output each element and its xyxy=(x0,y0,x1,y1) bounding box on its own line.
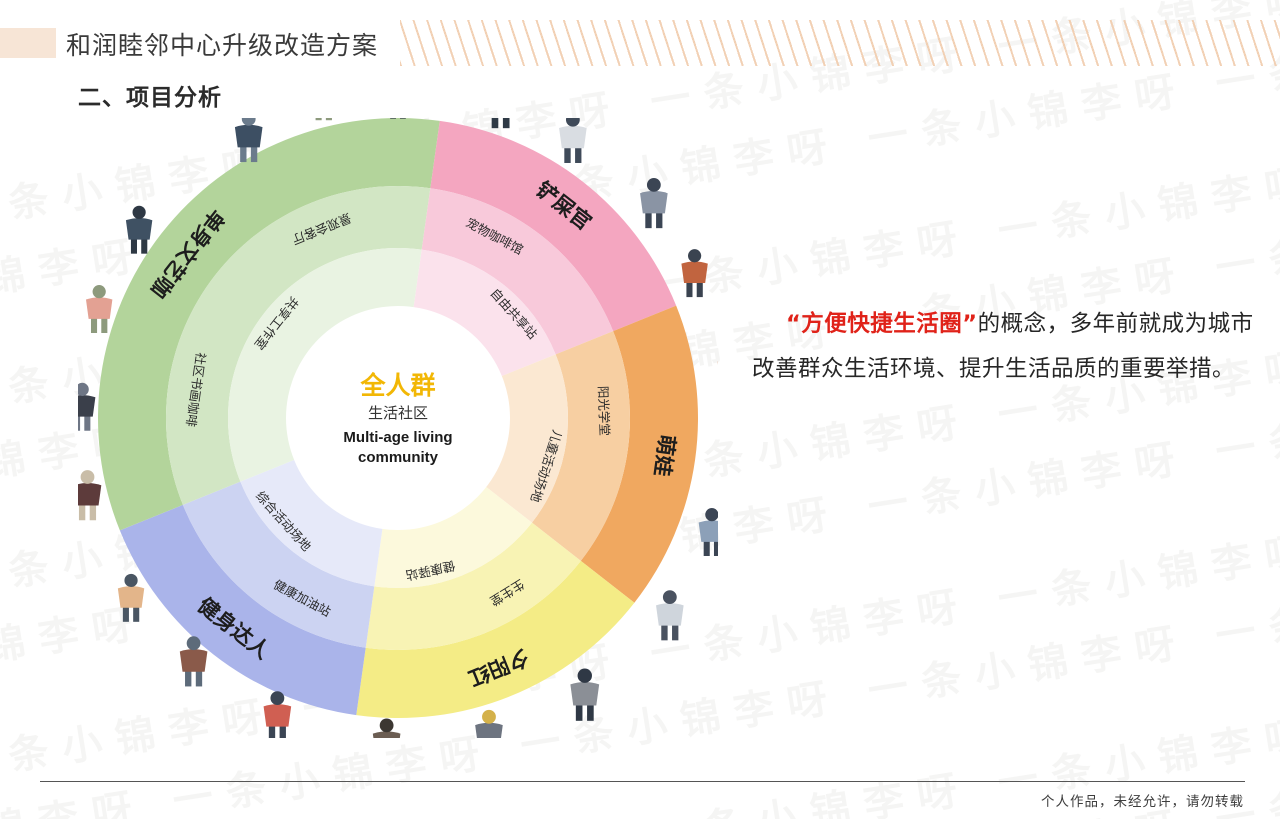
body-paragraph: “方便快捷生活圈”的概念，多年前就成为城市改善群众生活环境、提升生活品质的重要举… xyxy=(752,302,1258,392)
person-with-dog xyxy=(559,118,587,163)
person-seated-chat xyxy=(78,470,101,520)
person-sitting xyxy=(311,118,337,120)
person-stretch xyxy=(118,574,144,622)
person-elder-couple xyxy=(570,668,599,720)
ring-label-kids-0: 阳光学堂 xyxy=(596,386,613,437)
person-phone xyxy=(126,206,152,254)
person-leash xyxy=(681,249,707,297)
person-weightlifter xyxy=(264,691,292,738)
person-elder-music xyxy=(373,719,401,738)
person-listener xyxy=(78,383,95,431)
header-color-swatch xyxy=(0,28,56,58)
person-dog-walker xyxy=(486,118,515,128)
highlight-phrase: “方便快捷生活圈” xyxy=(786,311,978,337)
hub-english-line1: Multi-age living xyxy=(343,429,452,446)
footer-copyright-note: 个人作品，未经允许，请勿转载 xyxy=(1041,790,1244,810)
radial-community-diagram: 宠物咖啡馆自由共享站阳光学堂儿童活动场地生生堂健康驿站健康加油站综合活动场地社区… xyxy=(78,118,718,738)
header-hatch-pattern xyxy=(400,20,1280,66)
slide-title: 和润睦邻中心升级改造方案 xyxy=(66,26,378,62)
hub-subtitle: 生活社区 xyxy=(368,404,428,422)
person-stool xyxy=(86,285,112,333)
person-parent-child xyxy=(656,590,684,640)
slide-header: 和润睦邻中心升级改造方案 xyxy=(0,0,1280,68)
person-elder-shopper xyxy=(475,710,503,738)
hub-title: 全人群 xyxy=(359,371,435,400)
person-family xyxy=(699,508,718,556)
section-title: 二、项目分析 xyxy=(78,78,222,112)
person-feeding-dog xyxy=(640,178,668,228)
footer-divider xyxy=(40,781,1245,782)
hub-english-line2: community xyxy=(358,449,439,466)
